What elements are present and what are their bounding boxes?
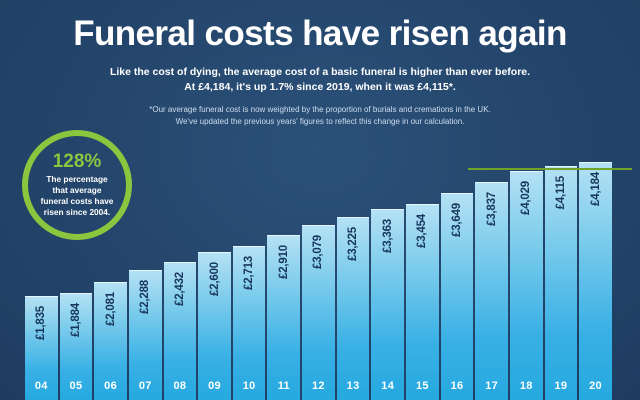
bar-year-label: 05 — [60, 380, 93, 392]
bar: £2,08106 — [94, 282, 127, 400]
bar-value-label: £3,363 — [382, 219, 394, 253]
bar-column: £3,22513 — [337, 150, 370, 400]
bar-year-label: 13 — [337, 380, 370, 392]
bar: £1,83504 — [25, 296, 58, 400]
bar: £3,64916 — [441, 193, 474, 400]
percentage-badge: 128% The percentage that average funeral… — [22, 130, 132, 240]
bar-year-label: 10 — [233, 380, 266, 392]
bar-column: £4,11519 — [545, 150, 578, 400]
footnote: *Our average funeral cost is now weighte… — [0, 104, 640, 127]
green-reference-line — [468, 168, 632, 170]
bar-value-label: £4,184 — [590, 172, 602, 206]
bar-column: £3,07912 — [302, 150, 335, 400]
bar-year-label: 14 — [371, 380, 404, 392]
bar-year-label: 11 — [267, 380, 300, 392]
bar: £2,43208 — [164, 262, 197, 400]
bar-year-label: 17 — [475, 380, 508, 392]
footnote-line-1: *Our average funeral cost is now weighte… — [0, 104, 640, 116]
bar-column: £2,71310 — [233, 150, 266, 400]
bar-value-label: £2,288 — [139, 280, 151, 314]
bar-year-label: 19 — [545, 380, 578, 392]
bar-year-label: 18 — [510, 380, 543, 392]
bar-value-label: £1,884 — [70, 303, 82, 337]
bar-column: £3,36314 — [371, 150, 404, 400]
bar-year-label: 15 — [406, 380, 439, 392]
bar-column: £3,64916 — [441, 150, 474, 400]
bar-year-label: 07 — [129, 380, 162, 392]
subtitle-line-2: At £4,184, it's up 1.7% since 2019, when… — [0, 80, 640, 95]
bar: £3,07912 — [302, 225, 335, 400]
bar: £2,60009 — [198, 252, 231, 400]
subtitle-line-1: Like the cost of dying, the average cost… — [0, 65, 640, 80]
bar-column: £4,18420 — [579, 150, 612, 400]
bar: £3,45415 — [406, 204, 439, 400]
bar: £2,71310 — [233, 246, 266, 400]
bar-year-label: 09 — [198, 380, 231, 392]
bar-value-label: £3,649 — [451, 203, 463, 237]
bar-column: £2,60009 — [198, 150, 231, 400]
bar-column: £2,43208 — [164, 150, 197, 400]
bar: £3,83717 — [475, 182, 508, 400]
bar-column: £2,28807 — [129, 150, 162, 400]
bar: £4,11519 — [545, 166, 578, 400]
header: Funeral costs have risen again Like the … — [0, 0, 640, 128]
bar: £3,22513 — [337, 217, 370, 400]
bar-value-label: £3,079 — [312, 235, 324, 269]
bar-year-label: 12 — [302, 380, 335, 392]
bar-column: £2,91011 — [267, 150, 300, 400]
bar: £3,36314 — [371, 209, 404, 400]
bar-year-label: 06 — [94, 380, 127, 392]
bar-year-label: 16 — [441, 380, 474, 392]
bar-year-label: 08 — [164, 380, 197, 392]
bar-column: £3,45415 — [406, 150, 439, 400]
bar: £2,91011 — [267, 235, 300, 400]
bar-value-label: £2,910 — [278, 245, 290, 279]
footnote-line-2: We've updated the previous years' figure… — [0, 116, 640, 128]
bar-column: £4,02918 — [510, 150, 543, 400]
bar-value-label: £3,837 — [486, 192, 498, 226]
badge-percent-value: 128% — [53, 152, 102, 171]
bar-value-label: £2,600 — [209, 262, 221, 296]
bar: £4,18420 — [579, 162, 612, 400]
infographic-page: Funeral costs have risen again Like the … — [0, 0, 640, 400]
bar-value-label: £4,115 — [555, 176, 567, 209]
bar-year-label: 04 — [25, 380, 58, 392]
bar: £4,02918 — [510, 171, 543, 400]
bar-year-label: 20 — [579, 380, 612, 392]
bar: £2,28807 — [129, 270, 162, 400]
bar-value-label: £4,029 — [520, 181, 532, 215]
badge-description: The percentage that average funeral cost… — [28, 174, 126, 217]
page-title: Funeral costs have risen again — [0, 0, 640, 51]
bar-column: £3,83717 — [475, 150, 508, 400]
bar-value-label: £1,835 — [35, 306, 47, 340]
subtitle: Like the cost of dying, the average cost… — [0, 65, 640, 95]
bar-value-label: £3,454 — [416, 214, 428, 248]
bar-value-label: £2,713 — [243, 256, 255, 290]
bar-value-label: £2,081 — [105, 292, 117, 326]
bar-value-label: £2,432 — [174, 272, 186, 306]
bar: £1,88405 — [60, 293, 93, 400]
bar-value-label: £3,225 — [347, 227, 359, 261]
